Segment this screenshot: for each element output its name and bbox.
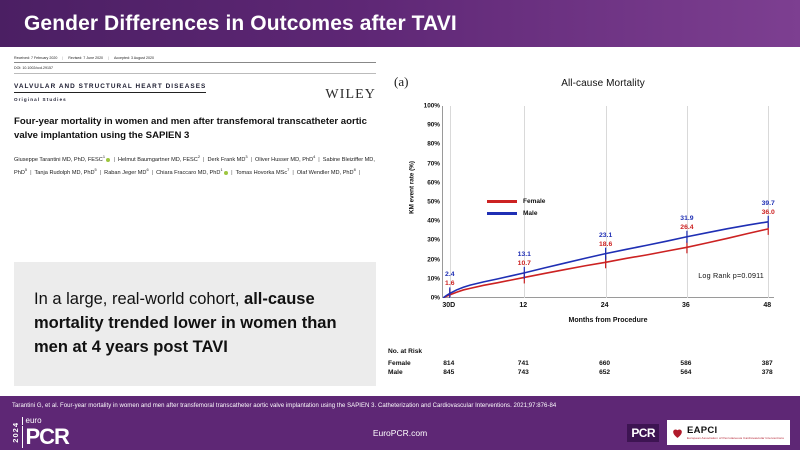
risk-value: 743 [518,369,529,376]
y-axis-ticks: 0%10%20%30%40%50%60%70%80%90%100% [398,106,440,298]
pcr-logo: PCR [627,424,659,442]
partner-logos: PCR EAPCI European Association of Percut… [627,420,790,445]
author-separator: | [315,157,322,163]
author-separator: | [27,170,34,176]
risk-rows: Female814741660586387Male845743652564378 [384,360,788,378]
callout-text: In a large, real-world cohort, all-cause… [14,288,376,360]
plot-wrap: KM event rate (%) 0%10%20%30%40%50%60%70… [384,106,788,326]
km-curve-chart: (a) All-cause Mortality KM event rate (%… [384,56,788,388]
y-tick-label: 70% [427,160,440,167]
author-affiliation: 1 [103,155,105,160]
data-label-male: 23.1 [599,232,612,239]
y-tick-label: 0% [431,295,440,302]
page-title: Gender Differences in Outcomes after TAV… [0,12,457,36]
log-rank-annotation: Log Rank p=0.0911 [698,271,764,280]
number-at-risk-table: No. at Risk Female814741660586387Male845… [384,348,788,378]
data-label-male: 31.9 [680,215,693,222]
legend-item-male: Male [487,210,545,217]
author-separator: | [110,157,117,163]
citation-bar: Tarantini G, et al. Four-year mortality … [0,396,800,415]
data-label-male: 2.4 [445,271,454,278]
author-name: Oliver Husser MD, PhD4 [255,157,315,163]
article-section-row: VALVULAR AND STRUCTURAL HEART DISEASES O… [14,83,376,102]
risk-row-label: Male [388,369,403,376]
x-tick-label: 36 [682,302,690,309]
x-tick-label: 48 [763,302,771,309]
risk-table-row: Male845743652564378 [384,369,788,378]
author-name: Helmut Baumgartner MD, FESC2 [118,157,200,163]
article-title: Four-year mortality in women and men aft… [14,115,376,142]
author-affiliation: 1 [220,167,222,172]
data-label-female: 10.7 [518,260,531,267]
data-label-male: 13.1 [518,251,531,258]
wiley-logo: WILEY [325,88,376,102]
eapci-logo: EAPCI European Association of Percutaneo… [667,420,790,445]
divider: | [62,56,63,60]
author-separator: | [248,157,255,163]
accepted-date: Accepted: 3 August 2020 [114,56,154,60]
risk-value: 845 [443,369,454,376]
eapci-subtitle: European Association of Percutaneous Car… [687,437,784,440]
citation-text: Tarantini G, et al. Four-year mortality … [0,403,556,409]
journal-article-figure: Received: 7 February 2020 | Revised: 7 J… [14,56,376,224]
journal-section: VALVULAR AND STRUCTURAL HEART DISEASES [14,83,206,93]
y-tick-label: 90% [427,122,440,129]
data-label-female: 1.6 [445,280,454,287]
x-tick-label: 24 [601,302,609,309]
y-tick-label: 80% [427,141,440,148]
author-name: Olaf Wendler MD, PhD8 [297,170,356,176]
callout-lead: In a large, real-world cohort, [34,290,244,308]
author-name: Tanja Rudolph MD, PhD5 [35,170,97,176]
risk-value: 564 [680,369,691,376]
article-dates: Received: 7 February 2020 | Revised: 7 J… [14,56,376,63]
y-tick-label: 40% [427,218,440,225]
y-tick-label: 10% [427,275,440,282]
legend-swatch [487,200,517,202]
key-takeaway-callout: In a large, real-world cohort, all-cause… [14,262,376,386]
risk-value: 814 [443,360,454,367]
author-name: Chiara Fraccaro MD, PhD1 [156,170,223,176]
author-name: Derk Frank MD3 [207,157,247,163]
revised-date: Revised: 7 June 2020 [68,56,103,60]
x-axis-label: Months from Procedure [442,317,774,324]
heart-icon [671,426,684,440]
risk-value: 652 [599,369,610,376]
eapci-name: EAPCI [687,426,784,436]
risk-value: 378 [762,369,773,376]
risk-table-title: No. at Risk [384,348,788,355]
risk-table-row: Female814741660586387 [384,360,788,369]
x-axis-ticks: 30D12243648 [442,302,774,316]
journal-subsection: Original Studies [14,97,206,102]
article-doi: DOI: 10.1002/ccd.29157 [14,66,376,74]
risk-value: 741 [518,360,529,367]
author-separator: | [149,170,156,176]
footer-bar: 2024 euro PCR EuroPCR.com PCR EAPCI Euro… [0,415,800,450]
y-tick-label: 20% [427,256,440,263]
legend-swatch [487,212,517,214]
y-tick-label: 30% [427,237,440,244]
divider: | [108,56,109,60]
plot-area: 2.41.613.110.723.118.631.926.439.736.0 F… [442,106,774,298]
risk-value: 660 [599,360,610,367]
author-separator: | [356,170,363,176]
y-tick-label: 60% [427,179,440,186]
header-bar: Gender Differences in Outcomes after TAV… [0,0,800,47]
legend-label: Male [523,210,537,217]
author-name: Raban Jeger MD6 [104,170,148,176]
author-separator: | [228,170,235,176]
risk-value: 387 [762,360,773,367]
legend-item-female: Female [487,198,545,205]
x-tick-label: 30D [442,302,455,309]
data-label-male: 39.7 [762,200,775,207]
author-name: Giuseppe Tarantini MD, PhD, FESC1 [14,157,105,163]
risk-value: 586 [680,360,691,367]
y-tick-label: 100% [424,103,440,110]
x-tick-label: 12 [519,302,527,309]
author-separator: | [289,170,296,176]
chart-legend: FemaleMale [487,198,545,222]
slide: Gender Differences in Outcomes after TAV… [0,0,800,450]
data-label-female: 36.0 [762,209,775,216]
chart-title: All-cause Mortality [384,78,788,89]
data-label-female: 26.4 [680,224,693,231]
y-tick-label: 50% [427,199,440,206]
chart-title-text: All-cause Mortality [527,78,645,89]
received-date: Received: 7 February 2020 [14,56,57,60]
data-label-female: 18.6 [599,241,612,248]
legend-label: Female [523,198,545,205]
risk-row-label: Female [388,360,411,367]
author-name: Tomas Hovorka MSc7 [236,170,290,176]
article-authors: Giuseppe Tarantini MD, PhD, FESC1|Helmut… [14,154,376,180]
